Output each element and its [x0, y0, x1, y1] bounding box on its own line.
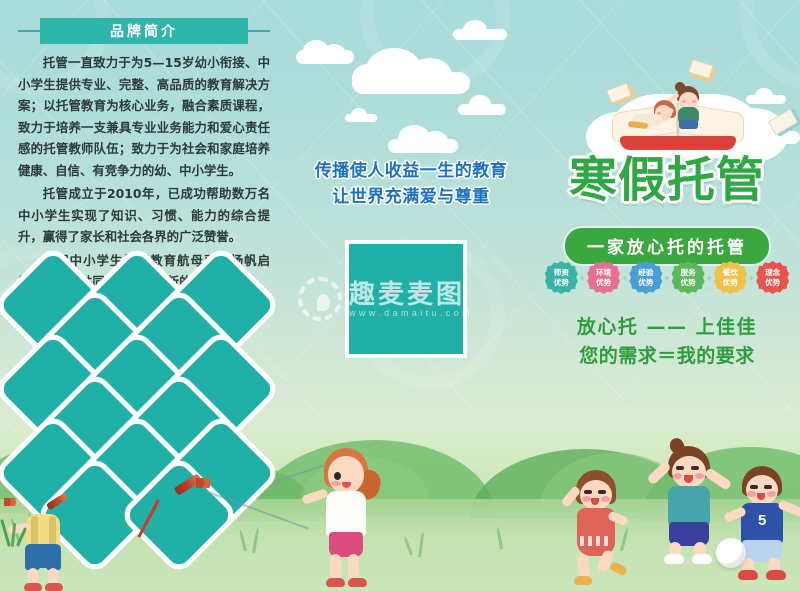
badge-separator: +	[622, 273, 627, 283]
badge-line1: 理念	[765, 268, 780, 277]
section-title: 品牌简介	[40, 18, 248, 44]
section-header-band: 品牌简介	[18, 18, 270, 44]
middle-slogan-line1: 传播使人收益一生的教育	[288, 158, 534, 184]
badge-huanjing[interactable]: 环境 优势	[587, 261, 620, 294]
footer-slogan: 放心托 —— 上佳佳 您的需求＝我的要求	[534, 313, 800, 371]
fern-plant	[0, 517, 30, 547]
header-rule-left	[18, 30, 40, 32]
right-panel: 寒假托管 一家放心托的托管 师资 优势 + 环境 优势 + 经验 优势 + 服务…	[534, 0, 800, 591]
badge-jingyan[interactable]: 经验 优势	[629, 261, 662, 294]
badge-separator: +	[707, 273, 712, 283]
play-boy-blue-jersey: 5	[728, 466, 800, 586]
badge-line2: 优势	[596, 278, 611, 287]
badge-line2: 优势	[681, 278, 696, 287]
kite-girl-figure	[304, 448, 384, 591]
badge-line2: 优势	[765, 278, 780, 287]
badge-shizi[interactable]: 师资 优势	[545, 261, 578, 294]
badge-line1: 经验	[638, 268, 653, 277]
watermark-logo-icon	[298, 277, 342, 321]
subtitle-pill-wrap: 一家放心托的托管	[534, 228, 800, 264]
footer-slogan-line2: 您的需求＝我的要求	[534, 342, 800, 371]
play-girl-red-dress	[562, 470, 636, 588]
intro-paragraph: 托管一直致力于为5—15岁幼小衔接、中小学生提供专业、完整、高品质的教育解决方案…	[18, 52, 270, 181]
kite-tail-icon	[4, 498, 22, 506]
badge-fuwu[interactable]: 服务 优势	[672, 261, 705, 294]
soccer-ball-icon	[716, 538, 746, 568]
footer-slogan-line1: 放心托 —— 上佳佳	[534, 313, 800, 342]
middle-slogan: 传播使人收益一生的教育 让世界充满爱与尊重	[288, 158, 534, 210]
header-rule-right	[248, 30, 270, 32]
badge-linian[interactable]: 理念 优势	[756, 261, 789, 294]
subtitle-pill: 一家放心托的托管	[565, 228, 769, 264]
intro-paragraph: 托管成立于2010年，已成功帮助数万名中小学生实现了知识、习惯、能力的综合提升，…	[18, 183, 270, 248]
badge-separator: +	[664, 273, 669, 283]
middle-panel: 传播使人收益一生的教育 让世界充满爱与尊重 趣麦麦图 www.damaitu.c…	[288, 0, 534, 591]
badge-line2: 优势	[723, 278, 738, 287]
advantage-badge-row: 师资 优势 + 环境 优势 + 经验 优势 + 服务 优势 + 餐饮 优势	[542, 261, 792, 294]
badge-line2: 优势	[554, 278, 569, 287]
badge-line1: 餐饮	[723, 268, 738, 277]
kite-tail-icon	[196, 478, 218, 488]
badge-line1: 环境	[596, 268, 611, 277]
badge-line1: 师资	[554, 268, 569, 277]
badge-line2: 优势	[638, 278, 653, 287]
badge-separator: +	[580, 273, 585, 283]
photo-placeholder-card[interactable]	[345, 240, 467, 358]
badge-separator: +	[749, 273, 754, 283]
left-panel: 品牌简介 托管一直致力于为5—15岁幼小衔接、中小学生提供专业、完整、高品质的教…	[0, 0, 288, 591]
middle-slogan-line2: 让世界充满爱与尊重	[288, 184, 534, 210]
page-title: 寒假托管	[534, 152, 800, 208]
badge-canyin[interactable]: 餐饮 优势	[714, 261, 747, 294]
badge-line1: 服务	[681, 268, 696, 277]
poster-canvas: 品牌简介 托管一直致力于为5—15岁幼小衔接、中小学生提供专业、完整、高品质的教…	[0, 0, 800, 591]
